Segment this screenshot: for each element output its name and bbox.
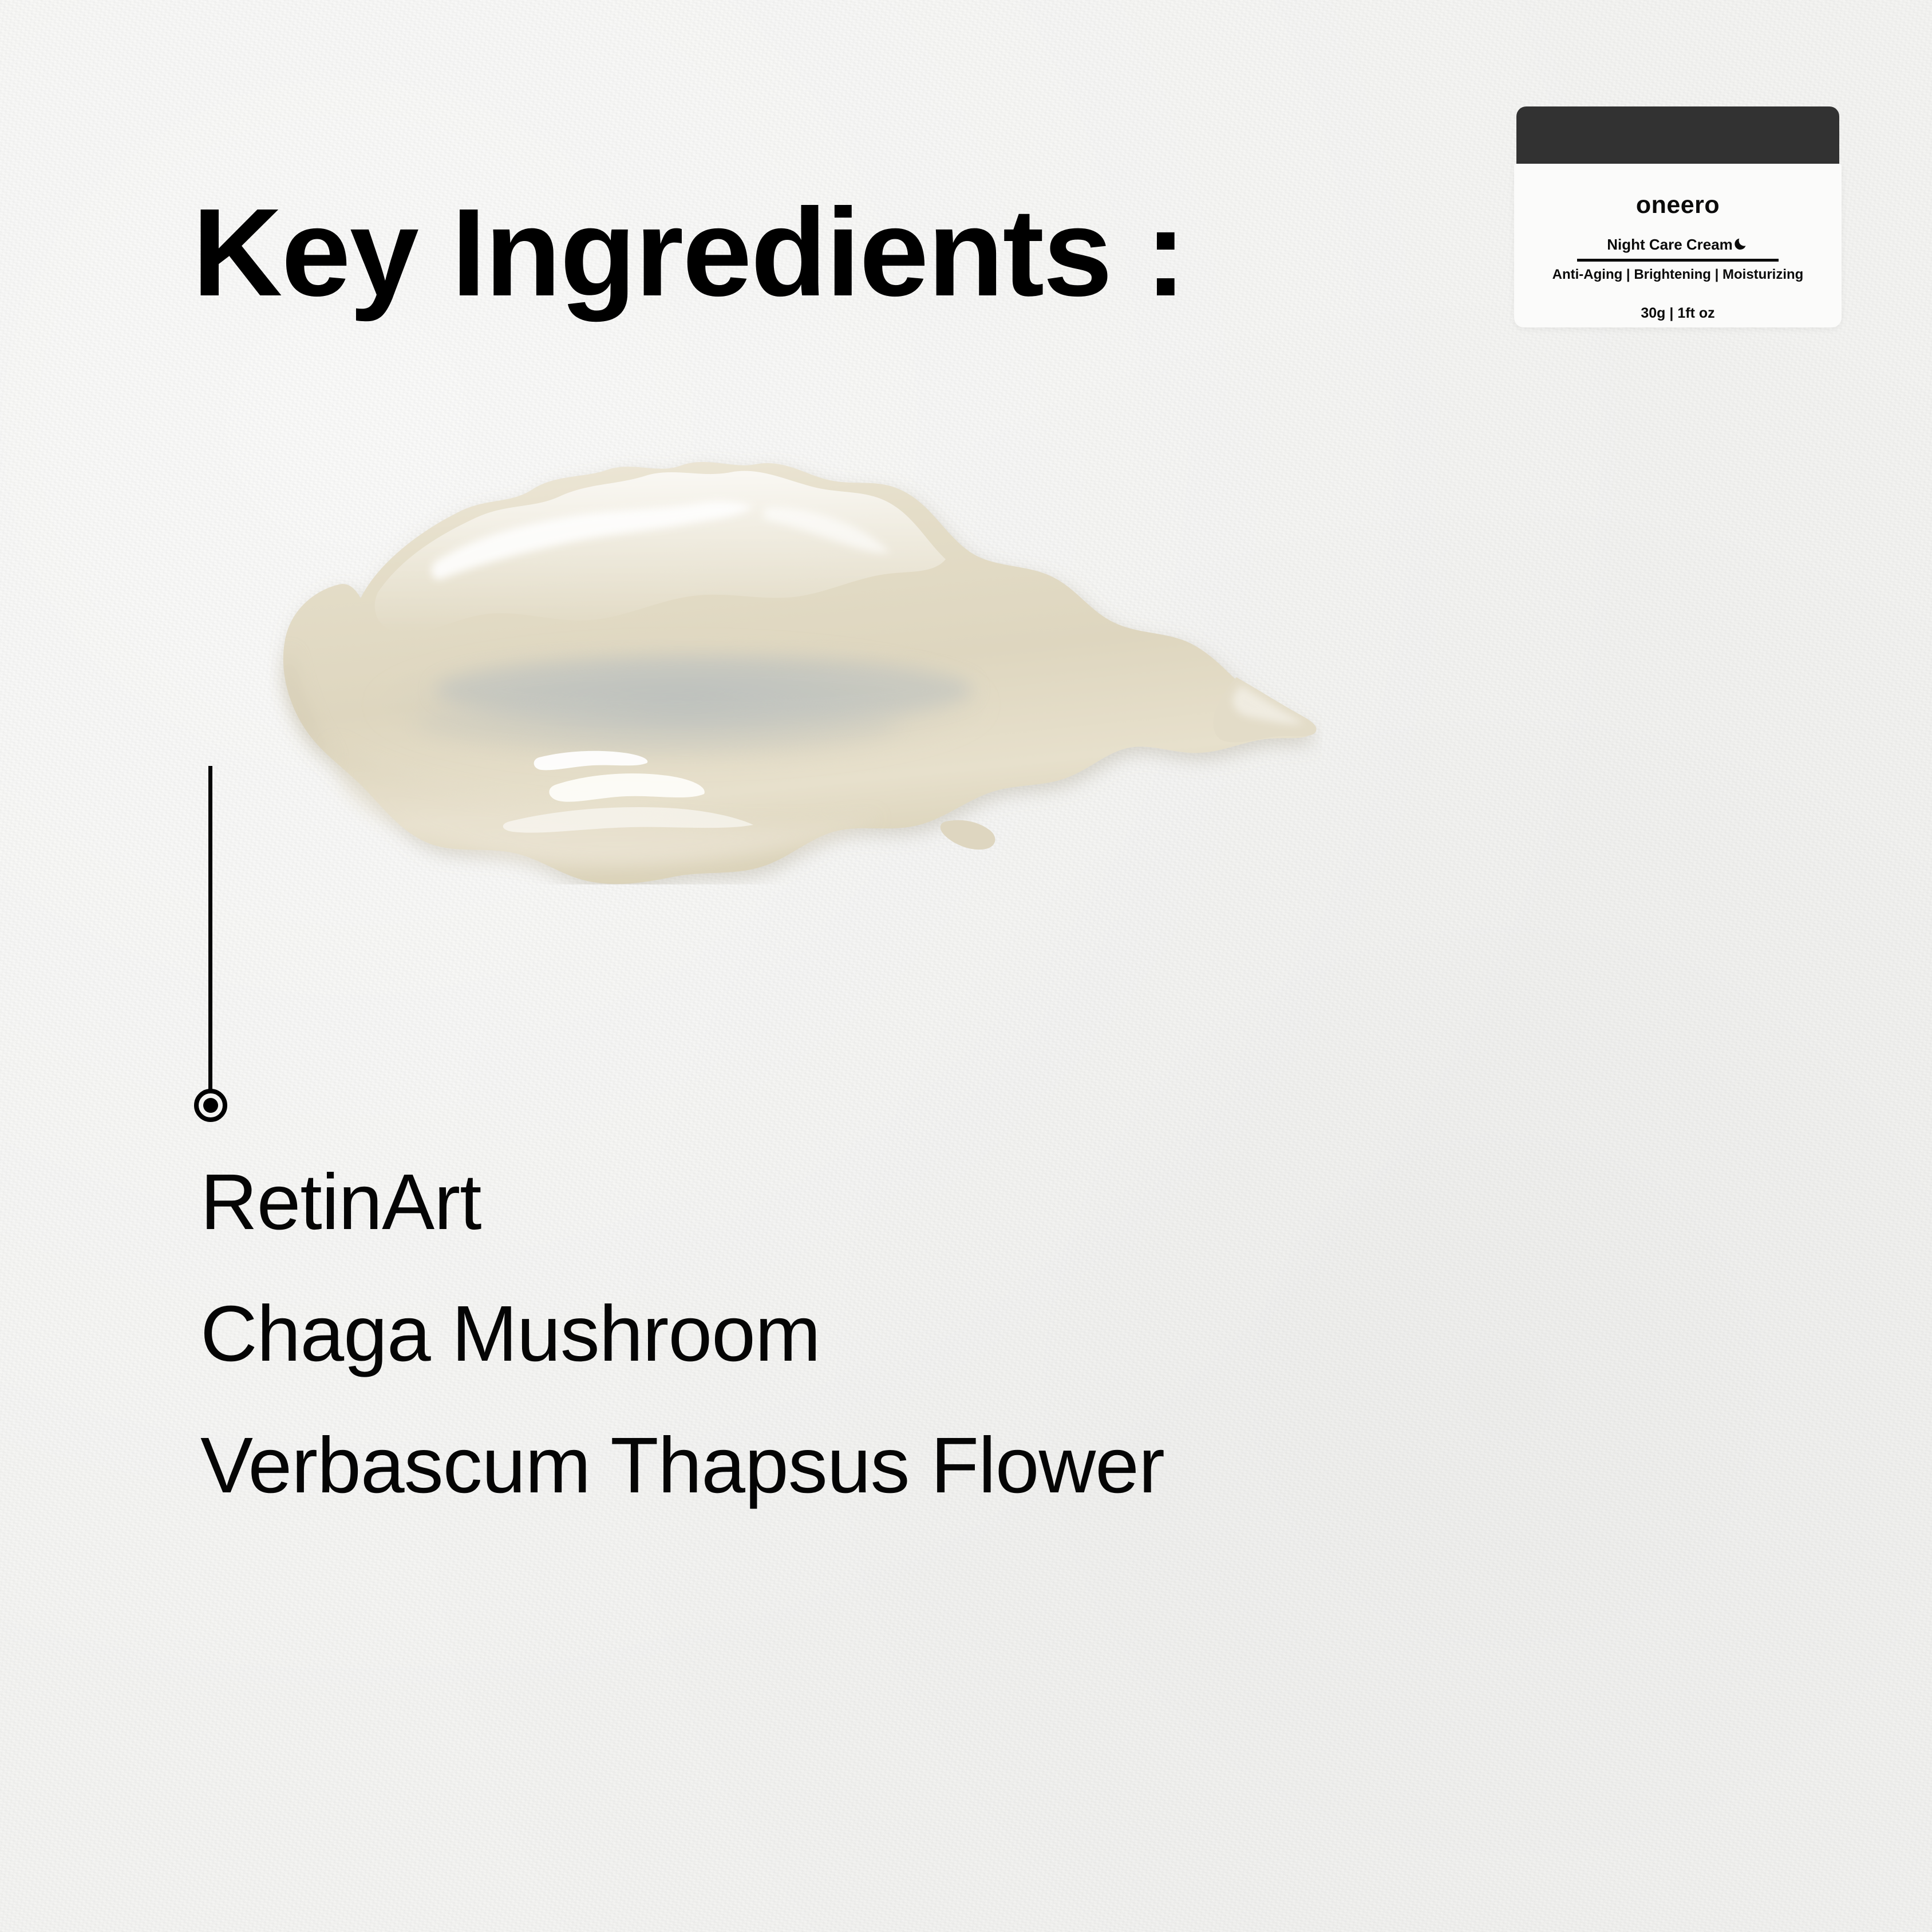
jar-body-label: oneero Night Care Cream Anti-Aging | Bri…	[1514, 164, 1842, 327]
leader-line	[208, 766, 212, 1105]
jar-lid	[1516, 106, 1839, 168]
brand-name: oneero	[1514, 191, 1842, 219]
crescent-moon-icon	[1734, 236, 1749, 255]
page-title: Key Ingredients :	[192, 191, 1186, 315]
ingredient-list: RetinArt Chaga Mushroom Verbascum Thapsu…	[200, 1136, 1574, 1531]
label-divider	[1577, 259, 1779, 262]
cream-texture-swatch	[189, 421, 1322, 884]
ingredient-item-0: RetinArt	[200, 1136, 1574, 1268]
product-jar: oneero Night Care Cream Anti-Aging | Bri…	[1514, 106, 1842, 327]
cream-swatch-svg	[189, 421, 1322, 884]
ingredient-item-1: Chaga Mushroom	[200, 1268, 1574, 1400]
product-subtitle-row: Night Care Cream	[1514, 236, 1842, 255]
product-size: 30g | 1ft oz	[1514, 305, 1842, 322]
ingredient-item-2: Verbascum Thapsus Flower	[200, 1400, 1574, 1531]
product-subtitle: Night Care Cream	[1607, 236, 1733, 253]
product-benefits: Anti-Aging | Brightening | Moisturizing	[1514, 267, 1842, 283]
bullseye-marker-icon	[194, 1089, 227, 1122]
